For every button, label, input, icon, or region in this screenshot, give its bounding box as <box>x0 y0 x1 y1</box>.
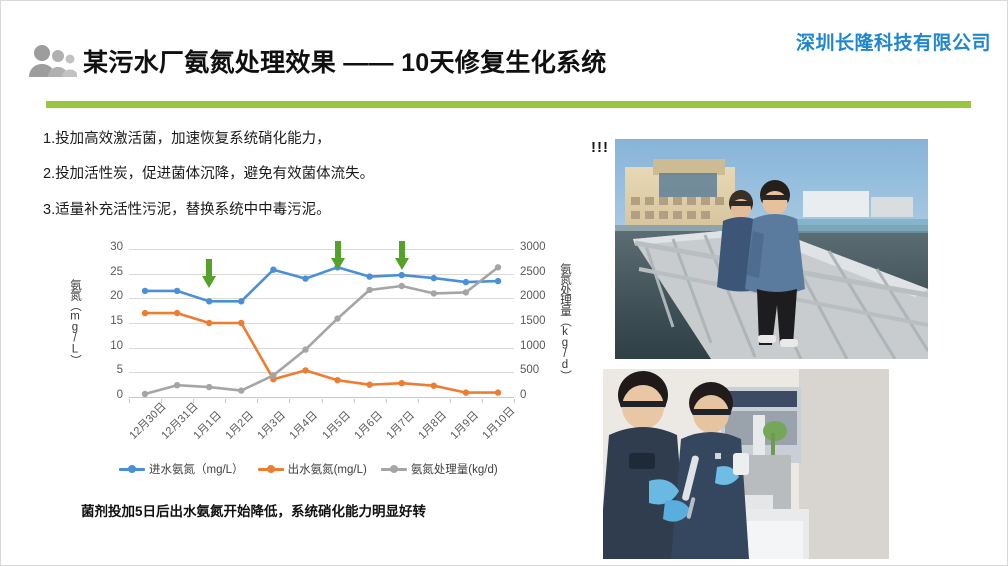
x-axis-tick <box>161 399 162 403</box>
y-axis-left-tick-label: 30 <box>89 241 123 253</box>
data-point <box>142 288 148 294</box>
x-axis-tick-label: 1月10日 <box>478 403 518 443</box>
people-icon <box>27 44 77 78</box>
data-point <box>399 380 405 386</box>
data-point <box>366 382 372 388</box>
data-point <box>302 346 308 352</box>
y-axis-left-tick-label: 10 <box>89 340 123 352</box>
x-axis-tick-label: 1月3日 <box>254 407 290 443</box>
title-row: 某污水厂氨氮处理效果 —— 10天修复生化系统 <box>27 43 607 79</box>
data-point <box>302 275 308 281</box>
x-axis-tick <box>354 399 355 403</box>
series-line-1 <box>145 313 498 393</box>
series-line-0 <box>145 267 498 301</box>
legend-item[interactable]: 氨氮处理量(kg/d) <box>381 461 498 477</box>
data-point <box>366 273 372 279</box>
bullet-item: 3.适量补充活性污泥，替换系统中中毒污泥。 <box>43 202 563 219</box>
y-axis-right-tick-label: 1500 <box>520 315 546 327</box>
x-axis-tick <box>386 399 387 403</box>
data-point <box>463 389 469 395</box>
data-point <box>270 267 276 273</box>
photo-walkway-aeration-basin <box>615 139 928 359</box>
dosing-arrow-icon <box>202 259 216 289</box>
data-point <box>238 298 244 304</box>
bullet-list: 1.投加高效激活菌，加速恢复系统硝化能力， 2.投加活性炭，促进菌体沉降，避免有… <box>43 131 563 237</box>
exclamation-marker: !!! <box>591 139 609 156</box>
data-point <box>206 384 212 390</box>
data-point <box>334 315 340 321</box>
y-axis-right-tick-label: 2500 <box>520 266 546 278</box>
data-point <box>463 289 469 295</box>
data-point <box>431 290 437 296</box>
legend-item[interactable]: 进水氨氮（mg/L） <box>119 461 244 477</box>
data-point <box>142 310 148 316</box>
y-axis-left-tick-label: 20 <box>89 290 123 302</box>
x-axis-tick-label: 1月6日 <box>350 407 386 443</box>
x-axis-tick-label: 1月9日 <box>446 407 482 443</box>
series-lines <box>129 249 514 397</box>
legend-label: 氨氮处理量(kg/d) <box>411 461 498 477</box>
data-point <box>238 320 244 326</box>
y-axis-left-tick-label: 5 <box>89 364 123 376</box>
x-axis-line <box>129 397 514 398</box>
data-point <box>174 288 180 294</box>
data-point <box>174 310 180 316</box>
x-axis-tick-label: 1月2日 <box>221 407 257 443</box>
x-axis-tick <box>450 399 451 403</box>
slide-canvas: 深圳长隆科技有限公司 某污水厂氨氮处理效果 —— 10天修复生化系统 <box>0 0 1008 566</box>
x-axis-tick <box>289 399 290 403</box>
y-axis-right-ticks: 050010001500200025003000 <box>520 233 560 413</box>
x-axis-tick <box>193 399 194 403</box>
data-point <box>366 287 372 293</box>
bullet-item: 2.投加活性炭，促进菌体沉降，避免有效菌体流失。 <box>43 166 563 183</box>
y-axis-right-tick-label: 0 <box>520 389 526 401</box>
legend-swatch-2 <box>381 464 407 474</box>
plot-area <box>129 249 514 397</box>
data-point <box>270 372 276 378</box>
data-point <box>206 320 212 326</box>
x-axis-tick <box>225 399 226 403</box>
y-axis-right-tick-label: 1000 <box>520 340 546 352</box>
title-underline-bar <box>46 101 971 108</box>
y-axis-left-title: 氨氮（mg/L） <box>67 279 83 365</box>
y-axis-right-tick-label: 500 <box>520 364 539 376</box>
company-name: 深圳长隆科技有限公司 <box>796 28 991 55</box>
data-point <box>399 283 405 289</box>
x-axis-tick-label: 1月7日 <box>382 407 418 443</box>
legend-label: 出水氨氮(mg/L) <box>288 461 367 477</box>
x-axis-tick <box>129 399 130 403</box>
legend-label: 进水氨氮（mg/L） <box>149 461 244 477</box>
data-point <box>463 279 469 285</box>
x-axis-tick-label: 1月8日 <box>414 407 450 443</box>
photo-lab-sampling <box>603 369 889 559</box>
y-axis-left-ticks: 051015202530 <box>89 233 123 413</box>
data-point <box>206 298 212 304</box>
dosing-arrow-icon <box>395 241 409 271</box>
data-point <box>495 389 501 395</box>
y-axis-left-tick-label: 0 <box>89 389 123 401</box>
x-axis-labels: 12月30日12月31日1月1日1月2日1月3日1月4日1月5日1月6日1月7日… <box>129 399 514 459</box>
data-point <box>334 377 340 383</box>
x-axis-tick <box>418 399 419 403</box>
x-axis-tick <box>257 399 258 403</box>
y-axis-left-tick-label: 25 <box>89 266 123 278</box>
y-axis-right-tick-label: 2000 <box>520 290 546 302</box>
dosing-arrow-icon <box>331 241 345 271</box>
ammonia-nitrogen-line-chart: 氨氮（mg/L） 氨氮处理量（kg/d） 051015202530 050010… <box>41 233 571 493</box>
x-axis-tick-label: 1月5日 <box>318 407 354 443</box>
bullet-item: 1.投加高效激活菌，加速恢复系统硝化能力， <box>43 131 563 148</box>
data-point <box>495 278 501 284</box>
data-point <box>431 275 437 281</box>
data-point <box>399 272 405 278</box>
data-point <box>238 387 244 393</box>
legend-swatch-1 <box>258 464 284 474</box>
x-axis-tick-label: 1月4日 <box>286 407 322 443</box>
legend-item[interactable]: 出水氨氮(mg/L) <box>258 461 367 477</box>
chart-legend: 进水氨氮（mg/L）出水氨氮(mg/L)氨氮处理量(kg/d) <box>119 461 498 477</box>
x-axis-tick <box>482 399 483 403</box>
data-point <box>302 367 308 373</box>
y-axis-left-tick-label: 15 <box>89 315 123 327</box>
legend-swatch-0 <box>119 464 145 474</box>
data-point <box>174 382 180 388</box>
x-axis-tick <box>322 399 323 403</box>
x-axis-tick <box>514 399 515 403</box>
data-point <box>495 264 501 270</box>
data-point <box>431 383 437 389</box>
page-title: 某污水厂氨氮处理效果 —— 10天修复生化系统 <box>83 43 607 79</box>
y-axis-right-tick-label: 3000 <box>520 241 546 253</box>
chart-caption: 菌剂投加5日后出水氨氮开始降低，系统硝化能力明显好转 <box>81 500 426 520</box>
